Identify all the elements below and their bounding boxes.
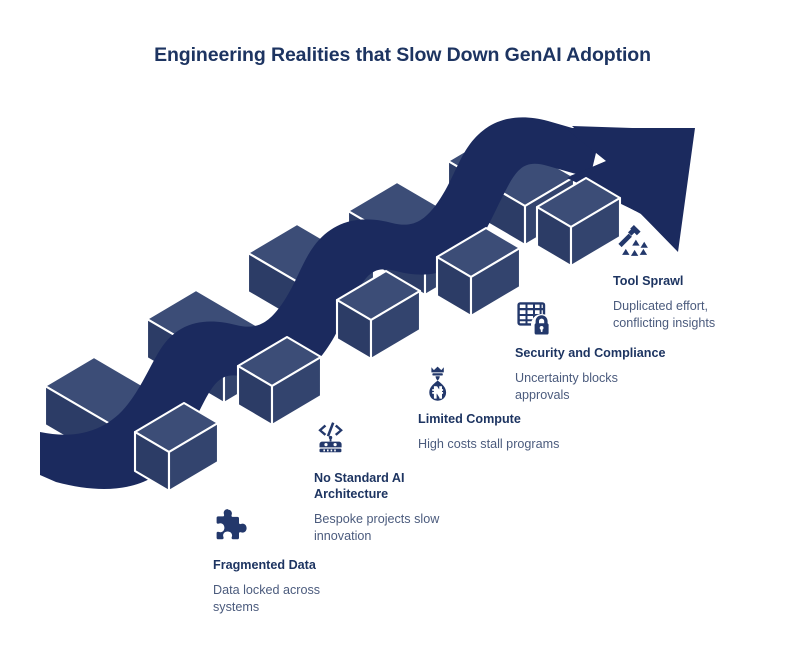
money-bag-naira-icon xyxy=(418,364,458,404)
robot-code-icon xyxy=(314,418,354,458)
step-description: Data locked across systems xyxy=(213,582,320,616)
step-description: High costs stall programs xyxy=(418,436,559,453)
puzzle-piece-icon xyxy=(213,505,253,545)
step-heading: No Standard AI Architecture xyxy=(314,470,439,502)
step-label-fragmented-data: Fragmented Data Data locked across syste… xyxy=(213,505,320,616)
step-description: Uncertainty blocks approvals xyxy=(515,370,665,404)
hammer-fragments-icon xyxy=(613,222,653,262)
step-heading: Fragmented Data xyxy=(213,557,320,573)
spreadsheet-lock-icon xyxy=(515,297,555,337)
step-label-tool-sprawl: Tool Sprawl Duplicated effort, conflicti… xyxy=(613,222,715,332)
step-description: Bespoke projects slow innovation xyxy=(314,511,439,545)
step-description: Duplicated effort, conflicting insights xyxy=(613,298,715,332)
step-heading: Tool Sprawl xyxy=(613,273,715,289)
step-heading: Limited Compute xyxy=(418,411,559,427)
step-heading: Security and Compliance xyxy=(515,345,665,361)
infographic-canvas: Engineering Realities that Slow Down Gen… xyxy=(0,0,805,647)
